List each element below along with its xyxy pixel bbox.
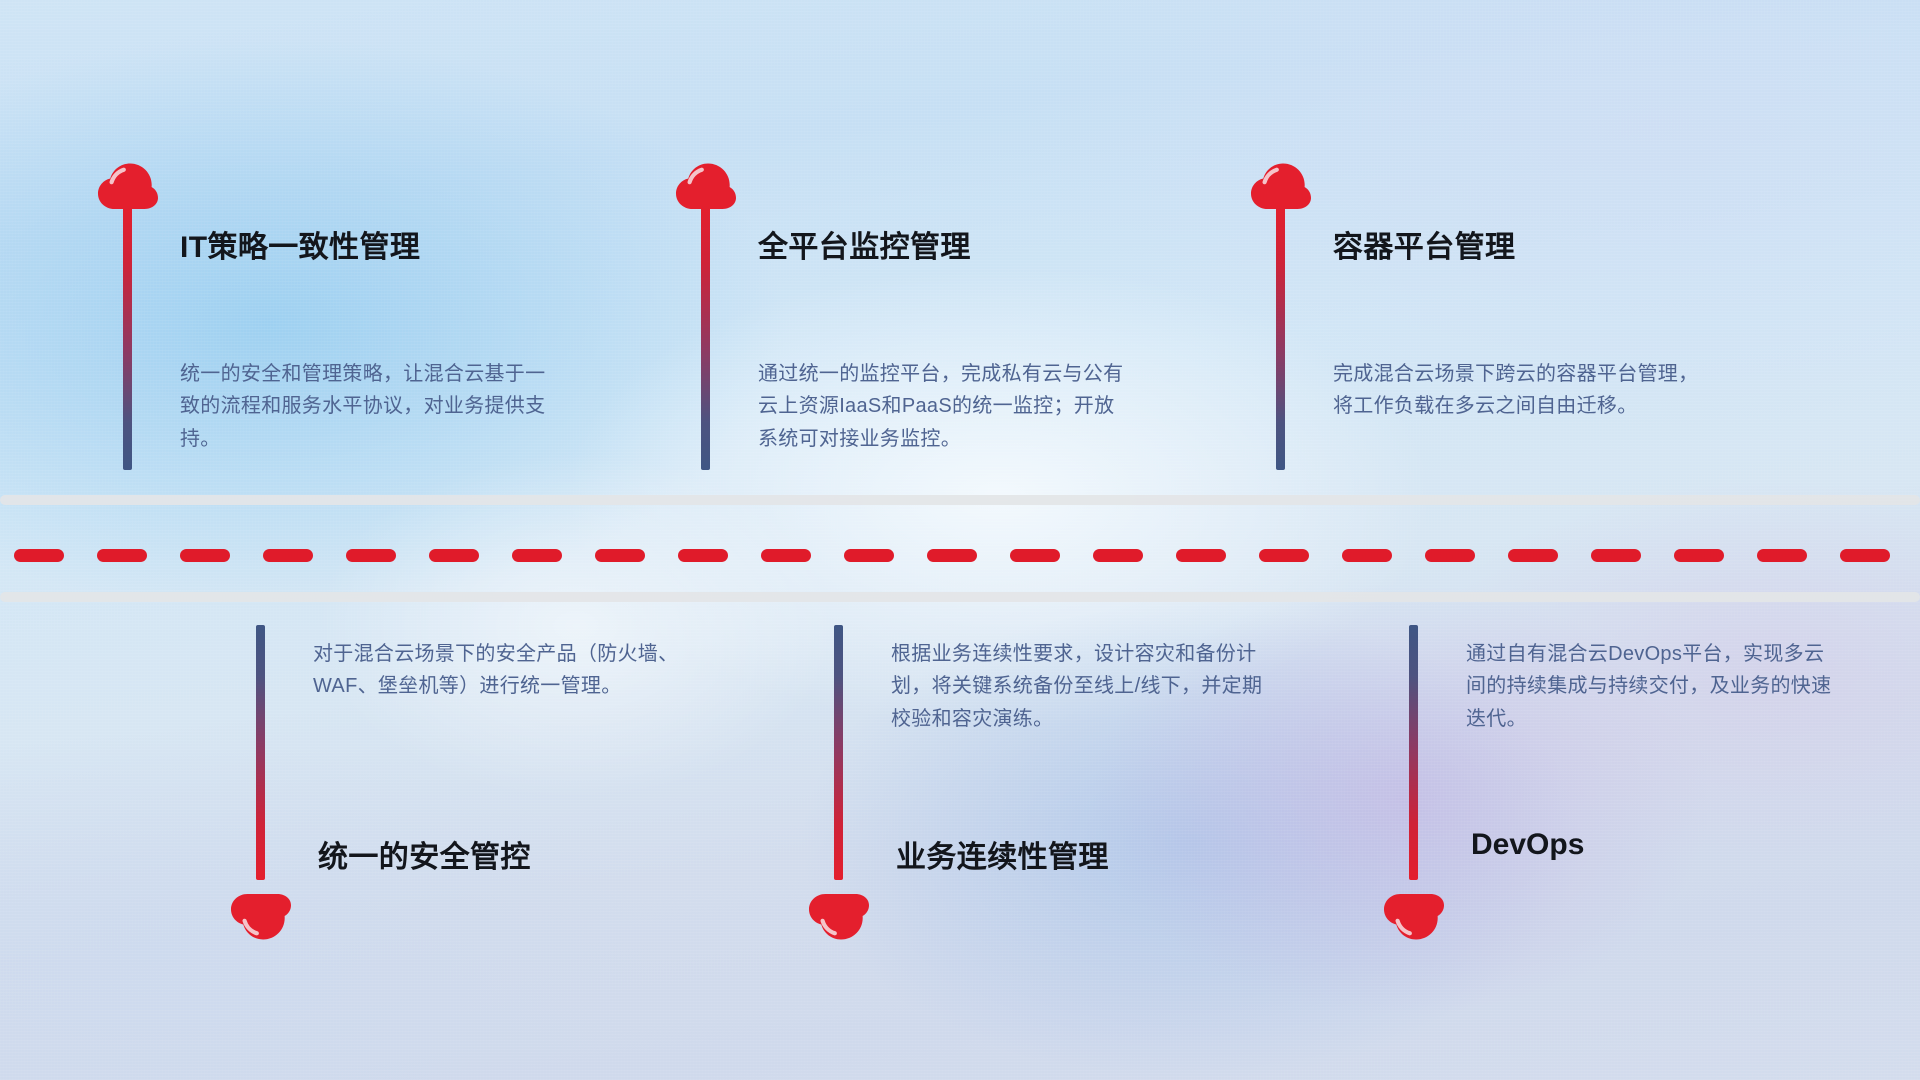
card-title: IT策略一致性管理 — [180, 222, 420, 266]
divider-dash — [429, 549, 479, 562]
card-body: 通过统一的监控平台，完成私有云与公有云上资源IaaS和PaaS的统一监控；开放系… — [758, 358, 1130, 455]
card-body: 通过自有混合云DevOps平台，实现多云间的持续集成与持续交付，及业务的快速迭代… — [1466, 638, 1838, 735]
divider-dash — [1093, 549, 1143, 562]
cloud-icon — [97, 160, 159, 210]
divider-dash — [14, 549, 64, 562]
card-title: DevOps — [1471, 828, 1584, 862]
pin-stem — [256, 625, 265, 880]
card-body: 对于混合云场景下的安全产品（防火墙、WAF、堡垒机等）进行统一管理。 — [313, 638, 685, 703]
divider-dash — [180, 549, 230, 562]
divider-dash — [1508, 549, 1558, 562]
divider-dash — [1342, 549, 1392, 562]
infographic-canvas: IT策略一致性管理 统一的安全和管理策略，让混合云基于一致的流程和服务水平协议，… — [0, 0, 1920, 1080]
divider-dash — [844, 549, 894, 562]
divider-dashed-line — [0, 548, 1920, 562]
divider-rail-bottom — [0, 592, 1920, 602]
card-body: 完成混合云场景下跨云的容器平台管理，将工作负载在多云之间自由迁移。 — [1333, 358, 1705, 423]
cloud-icon — [1250, 160, 1312, 210]
divider-rail-top — [0, 495, 1920, 505]
divider-dash — [1259, 549, 1309, 562]
divider-dash — [1176, 549, 1226, 562]
cloud-icon — [808, 893, 870, 943]
divider-dash — [761, 549, 811, 562]
divider-dash — [1425, 549, 1475, 562]
divider-dash — [97, 549, 147, 562]
divider-dash — [1674, 549, 1724, 562]
card-title: 容器平台管理 — [1333, 222, 1515, 266]
card-title: 全平台监控管理 — [758, 222, 971, 266]
divider-dash — [678, 549, 728, 562]
card-title: 统一的安全管控 — [318, 832, 531, 876]
divider-dash — [263, 549, 313, 562]
pin-stem — [1276, 205, 1285, 470]
divider-dash — [1840, 549, 1890, 562]
card-body: 统一的安全和管理策略，让混合云基于一致的流程和服务水平协议，对业务提供支持。 — [180, 358, 552, 455]
divider-dash — [1591, 549, 1641, 562]
pin-stem — [1409, 625, 1418, 880]
cloud-icon — [675, 160, 737, 210]
divider-dash — [1757, 549, 1807, 562]
pin-stem — [834, 625, 843, 880]
divider-dash — [595, 549, 645, 562]
cloud-icon — [230, 893, 292, 943]
card-title: 业务连续性管理 — [896, 832, 1109, 876]
pin-stem — [123, 205, 132, 470]
pin-stem — [701, 205, 710, 470]
divider-dash — [1010, 549, 1060, 562]
divider-dash — [346, 549, 396, 562]
card-body: 根据业务连续性要求，设计容灾和备份计划，将关键系统备份至线上/线下，并定期校验和… — [891, 638, 1263, 735]
divider-dash — [927, 549, 977, 562]
divider-dash — [512, 549, 562, 562]
cloud-icon — [1383, 893, 1445, 943]
